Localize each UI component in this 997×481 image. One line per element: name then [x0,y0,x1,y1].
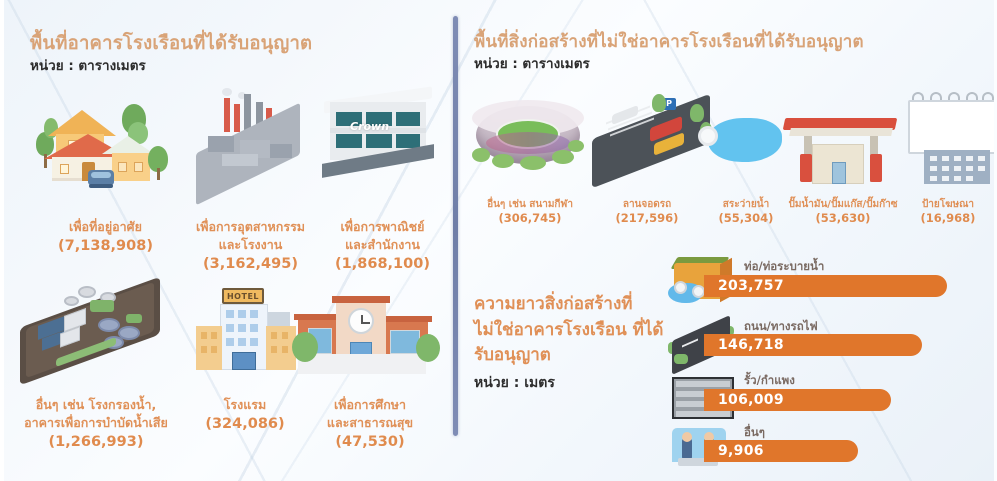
stadium-icon [470,92,588,174]
right-item-0-text: อื่นๆ เช่น สนามกีฬา [487,199,573,210]
hotel-sign: HOTEL [222,288,264,304]
right-item-1-label: ลานจอดรถ (217,596) [592,184,702,240]
bar-0-value: 203,757 [704,278,784,294]
left-item-0-value: (7,138,908) [28,236,183,257]
right-item-1-value: (217,596) [592,211,702,227]
factory-icon [192,88,310,188]
bar-0-label: ท่อ/ท่อระบายน้ำ [744,258,824,276]
left-item-4-text: โรงแรม [224,397,267,412]
water-treatment-icon [20,278,175,378]
left-item-1-label: เพื่อการอุตสาหกรรม และโรงงาน (3,162,495) [178,200,323,294]
left-item-2-text: เพื่อการพาณิชย์ และสำนักงาน [341,219,425,252]
swimming-pool-icon [698,104,794,174]
left-item-5-label: เพื่อการศึกษา และสาธารณสุข (47,530) [300,378,440,472]
right-item-3-label: ปั๊มน้ำมัน/ปั๊มแก๊ส/ปั๊มก๊าซ (53,630) [778,184,908,240]
left-edge-margin [0,0,4,481]
bars-section-unit: หน่วย : เมตร [474,372,555,394]
left-item-3-label: อื่นๆ เช่น โรงกรองน้ำ, อาคารเพื่อการบำบั… [6,378,186,472]
left-item-4-label: โรงแรม (324,086) [190,378,300,453]
right-item-3-text: ปั๊มน้ำมัน/ปั๊มแก๊ส/ปั๊มก๊าซ [788,199,897,210]
right-item-1-text: ลานจอดรถ [623,199,671,210]
bar-3-value: 9,906 [704,443,764,459]
bar-1: 146,718 [704,334,922,356]
gas-station-icon [782,104,900,186]
left-item-0-text: เพื่อที่อยู่อาศัย [69,219,142,234]
clock-icon [348,308,374,334]
left-panel-unit: หน่วย : ตารางเมตร [30,54,146,76]
bar-2: 106,009 [704,389,891,411]
right-item-2-text: สระว่ายน้ำ [723,199,769,210]
hotel-icon: HOTEL [186,282,306,377]
left-item-2-label: เพื่อการพาณิชย์ และสำนักงาน (1,868,100) [320,200,445,294]
left-item-5-text: เพื่อการศึกษา และสาธารณสุข [327,397,413,430]
infographic-canvas: พื้นที่อาคารโรงเรือนที่ได้รับอนุญาต หน่ว… [0,0,997,481]
billboard-icon [898,88,997,178]
right-panel-unit: หน่วย : ตารางเมตร [474,52,590,74]
right-item-4-label: ป้ายโฆษณา (16,968) [900,184,996,240]
bar-0: 203,757 [704,275,947,297]
left-item-3-text: อื่นๆ เช่น โรงกรองน้ำ, อาคารเพื่อการบำบั… [24,397,168,430]
right-panel-title: พื้นที่สิ่งก่อสร้างที่ไม่ใช่อาคารโรงเรือ… [474,28,864,55]
left-item-2-value: (1,868,100) [320,254,445,275]
house-icon [30,96,180,191]
left-item-4-value: (324,086) [190,414,300,435]
school-icon [292,288,442,378]
bar-3: 9,906 [704,440,858,462]
bar-2-label: รั้ว/กำแพง [744,372,795,390]
right-item-3-value: (53,630) [778,211,908,227]
bar-2-value: 106,009 [704,392,784,408]
left-item-3-value: (1,266,993) [6,432,186,453]
right-item-0-label: อื่นๆ เช่น สนามกีฬา (306,745) [470,184,590,240]
left-item-1-text: เพื่อการอุตสาหกรรม และโรงงาน [196,219,305,252]
right-item-4-value: (16,968) [900,211,996,227]
left-item-0-label: เพื่อที่อยู่อาศัย (7,138,908) [28,200,183,275]
office-building-icon: Crown [320,90,440,182]
right-item-0-value: (306,745) [470,211,590,227]
right-item-4-text: ป้ายโฆษณา [922,199,974,210]
bars-section-title: ความยาวสิ่งก่อสร้างที่ ไม่ใช่อาคารโรงเรื… [474,292,664,369]
left-item-1-value: (3,162,495) [178,254,323,275]
bar-1-value: 146,718 [704,337,784,353]
panel-divider [453,16,458,436]
left-item-5-value: (47,530) [300,432,440,453]
